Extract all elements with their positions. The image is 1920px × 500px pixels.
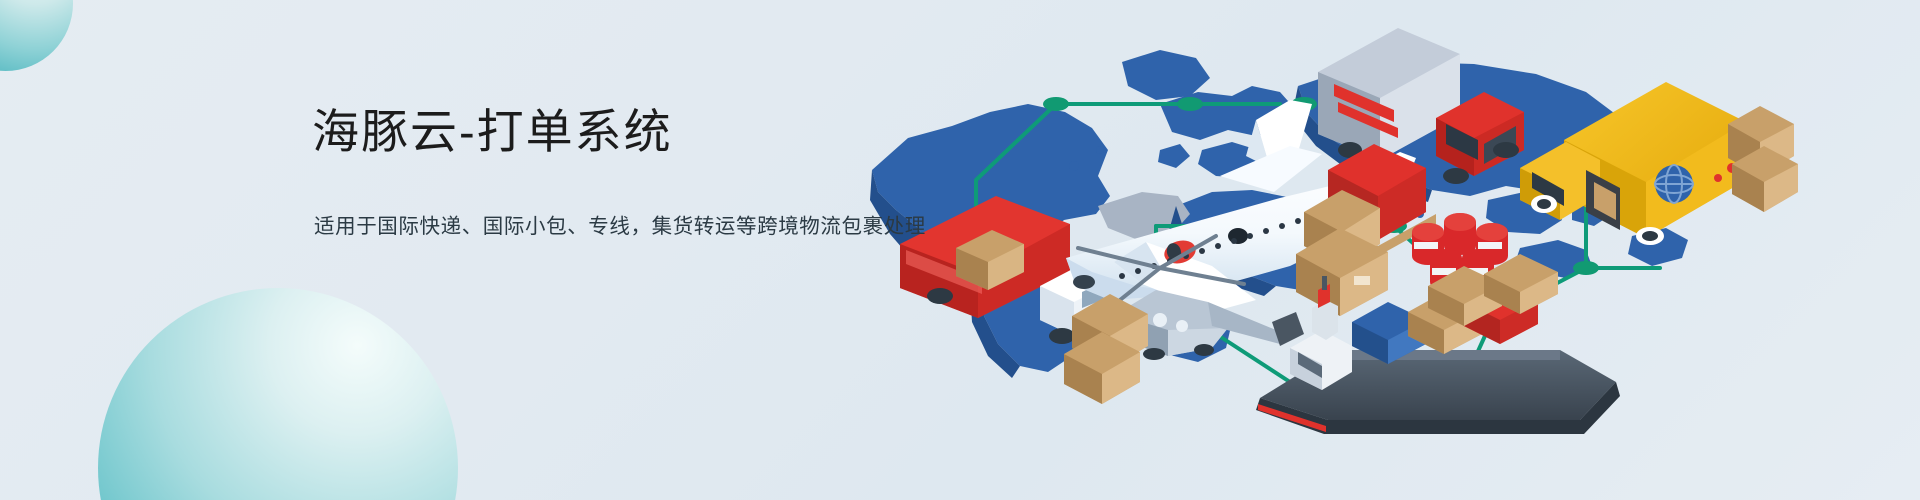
hero-text-block: 海豚云-打单系统 适用于国际快递、国际小包、专线，集货转运等跨境物流包裹处理 [312, 104, 926, 239]
hero-banner: 海豚云-打单系统 适用于国际快递、国际小包、专线，集货转运等跨境物流包裹处理 [0, 0, 1920, 500]
teal-circle-top-left-icon [0, 0, 73, 71]
page-subtitle: 适用于国际快递、国际小包、专线，集货转运等跨境物流包裹处理 [314, 209, 926, 239]
page-title: 海豚云-打单系统 [312, 104, 926, 159]
teal-circle-bottom-left-icon [98, 288, 458, 500]
global-logistics-illustration [860, 0, 1920, 500]
cardboard-boxes [1296, 190, 1388, 316]
